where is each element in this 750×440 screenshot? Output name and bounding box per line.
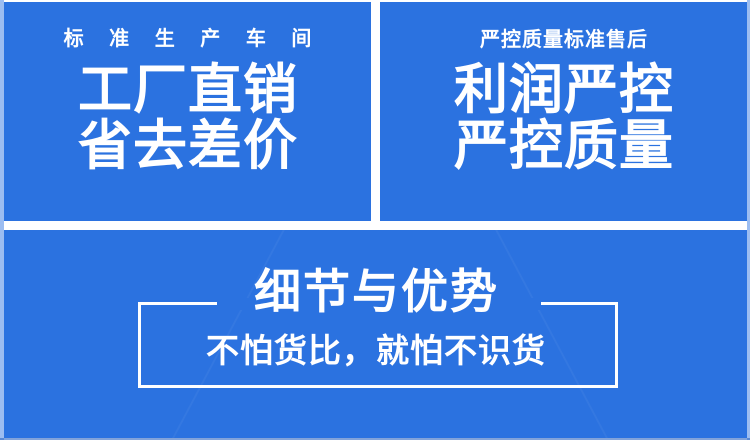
- factory-headline-line-2: 省去差价: [4, 118, 371, 174]
- quality-eyebrow-text: 严控质量标准售后: [380, 30, 747, 50]
- factory-headline-line-1: 工厂直销: [4, 62, 371, 118]
- panel-quality-content: 严控质量标准售后 利润严控 严控质量: [380, 30, 747, 174]
- panel-factory-direct-sales: 标 准 生 产 车 间 工厂直销 省去差价: [4, 2, 371, 221]
- details-subtitle-text: 不怕货比，就怕不识货: [4, 334, 747, 367]
- panel-factory-content: 标 准 生 产 车 间 工厂直销 省去差价: [4, 29, 371, 174]
- quality-headline-line-1: 利润严控: [380, 62, 747, 118]
- details-title-text: 细节与优势: [4, 268, 747, 315]
- quality-headline-group: 利润严控 严控质量: [380, 62, 747, 174]
- factory-headline-group: 工厂直销 省去差价: [4, 62, 371, 174]
- panel-quality-control: 严控质量标准售后 利润严控 严控质量: [380, 2, 747, 221]
- promo-banner: 标 准 生 产 车 间 工厂直销 省去差价 严控质量标准售后 利润严控 严控质量…: [0, 0, 750, 440]
- panel-details-and-advantages: 细节与优势 不怕货比，就怕不识货: [4, 230, 747, 438]
- factory-eyebrow-text: 标 准 生 产 车 间: [4, 29, 371, 49]
- quality-headline-line-2: 严控质量: [380, 118, 747, 174]
